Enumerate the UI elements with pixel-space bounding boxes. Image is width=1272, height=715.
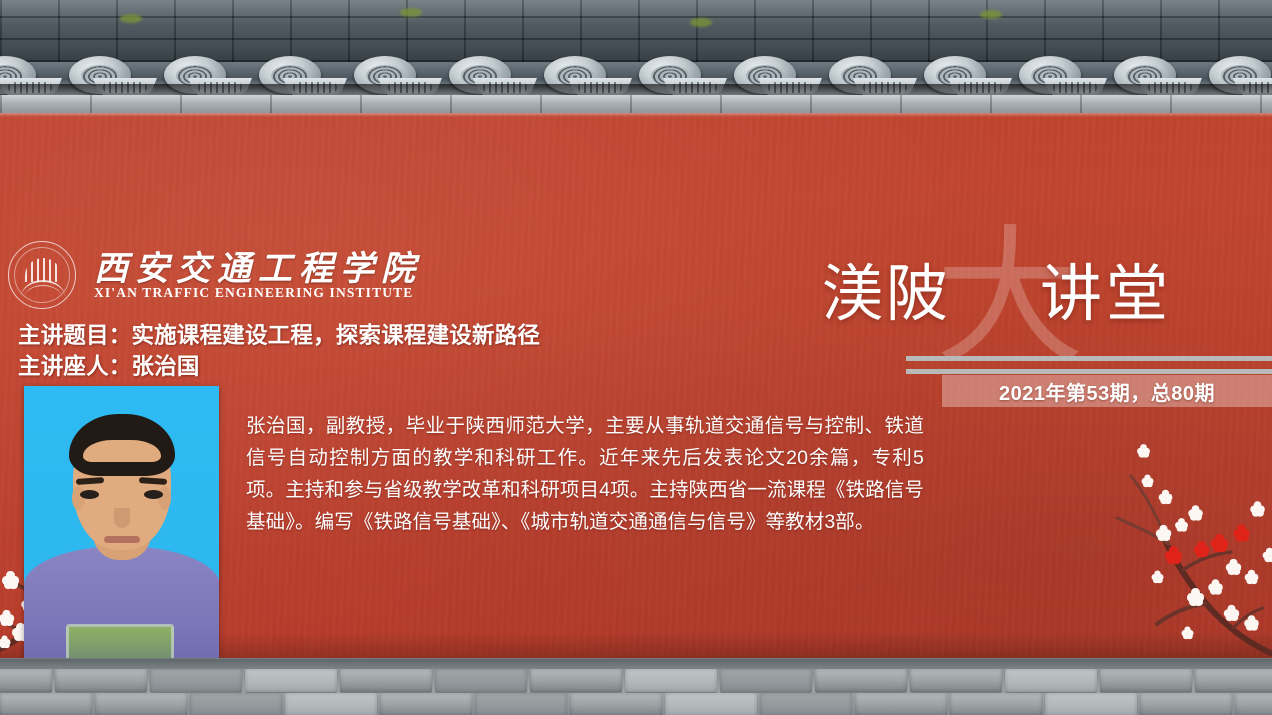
series-title-block: 大 渼陂 讲堂	[760, 241, 1272, 371]
lecture-headings: 主讲题目：实施课程建设工程，探索课程建设新路径 主讲座人：张治国	[18, 320, 540, 382]
brick	[760, 693, 852, 715]
brick	[190, 693, 282, 715]
roof-decoration	[0, 0, 1272, 113]
speaker-bio: 张治国，副教授，毕业于陕西师范大学，主要从事轨道交通信号与控制、铁道信号自动控制…	[246, 410, 924, 538]
moss-patch	[120, 14, 142, 23]
crest-arch-shape	[25, 258, 61, 282]
brick	[910, 669, 1002, 692]
brick	[855, 693, 947, 715]
institution-logo: 西安交通工程学院 XI'AN TRAFFIC ENGINEERING INSTI…	[8, 241, 398, 311]
brick	[625, 669, 717, 692]
brick	[435, 669, 527, 692]
brick	[1005, 669, 1097, 692]
brick-row	[0, 669, 1272, 692]
issue-badge-label: 2021年第53期，总80期	[999, 377, 1215, 406]
brick	[95, 693, 187, 715]
series-title-suffix: 讲堂	[1040, 259, 1172, 331]
brick	[1045, 693, 1137, 715]
brick	[245, 669, 337, 692]
brick	[150, 669, 242, 692]
photo-shirt-print	[66, 624, 174, 658]
institution-name-cn: 西安交通工程学院	[94, 241, 422, 290]
brick	[815, 669, 907, 692]
brick	[1235, 693, 1272, 715]
lecture-speaker: 主讲座人：张治国	[18, 351, 540, 382]
roof-cap-course	[0, 95, 1272, 113]
roof-stone-wall	[0, 0, 1272, 62]
moss-patch	[980, 10, 1002, 19]
issue-badge: 2021年第53期，总80期	[942, 375, 1272, 407]
poster-canvas: 西安交通工程学院 XI'AN TRAFFIC ENGINEERING INSTI…	[0, 0, 1272, 715]
brick	[570, 693, 662, 715]
brick	[0, 669, 52, 692]
moss-patch	[690, 18, 712, 27]
brick	[1140, 693, 1232, 715]
brick-row	[0, 693, 1272, 715]
brick	[665, 693, 757, 715]
photo-eye-right	[144, 490, 163, 499]
brick	[380, 693, 472, 715]
brick	[950, 693, 1042, 715]
photo-mouth	[104, 536, 140, 543]
title-rule-bottom	[906, 369, 1272, 374]
brick	[285, 693, 377, 715]
photo-torso	[24, 546, 219, 658]
brick	[0, 693, 92, 715]
brick	[530, 669, 622, 692]
institution-name-en: XI'AN TRAFFIC ENGINEERING INSTITUTE	[94, 285, 413, 301]
brick	[475, 693, 567, 715]
brick	[1100, 669, 1192, 692]
photo-nose	[114, 508, 130, 528]
photo-ear-right	[158, 486, 171, 510]
brick	[720, 669, 812, 692]
series-title-prefix: 渼陂	[822, 259, 950, 331]
brick	[340, 669, 432, 692]
photo-eye-left	[80, 490, 99, 499]
red-wall-background: 西安交通工程学院 XI'AN TRAFFIC ENGINEERING INSTI…	[0, 113, 1272, 658]
base-lip	[0, 658, 1272, 669]
brick	[1195, 669, 1272, 692]
title-rule-top	[906, 356, 1272, 361]
speaker-photo	[24, 386, 219, 658]
moss-patch	[400, 8, 422, 17]
brick	[55, 669, 147, 692]
stone-base	[0, 658, 1272, 715]
lecture-topic: 主讲题目：实施课程建设工程，探索课程建设新路径	[18, 320, 540, 351]
university-crest-icon	[8, 241, 76, 309]
